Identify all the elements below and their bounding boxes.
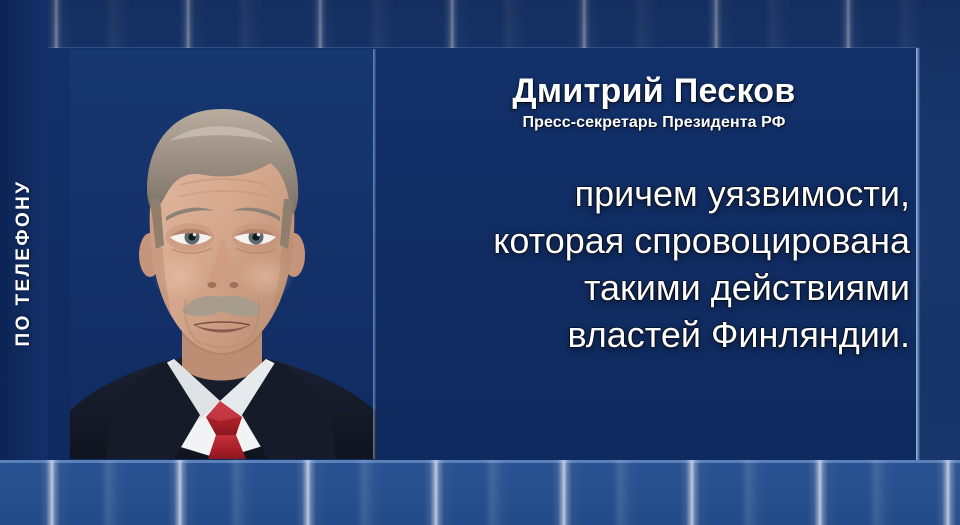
quote-line: властей Финляндии. bbox=[392, 311, 910, 358]
portrait-edge-highlight bbox=[373, 49, 376, 459]
call-mode-label: ПО ТЕЛЕФОНУ bbox=[13, 179, 35, 346]
caption-text-column: Дмитрий Песков Пресс-секретарь Президент… bbox=[392, 56, 916, 452]
lower-stripe-band bbox=[0, 460, 960, 525]
speaker-name: Дмитрий Песков bbox=[392, 72, 916, 111]
panel-edge-highlight bbox=[916, 48, 920, 460]
speaker-role: Пресс-секретарь Президента РФ bbox=[392, 114, 916, 132]
broadcast-frame: ПО ТЕЛЕФОНУ Дмитрий Песков Пресс-секрета… bbox=[0, 0, 960, 525]
call-mode-band: ПО ТЕЛЕФОНУ bbox=[0, 0, 48, 525]
speaker-portrait bbox=[70, 49, 376, 459]
portrait-illustration bbox=[70, 49, 376, 459]
lower-band-top-edge bbox=[0, 460, 960, 463]
quote-line: причем уязвимости, bbox=[392, 170, 910, 217]
quote-block: причем уязвимости, которая спровоцирован… bbox=[392, 170, 916, 358]
quote-line: такими действиями bbox=[392, 264, 910, 311]
quote-line: которая спровоцирована bbox=[392, 217, 910, 264]
